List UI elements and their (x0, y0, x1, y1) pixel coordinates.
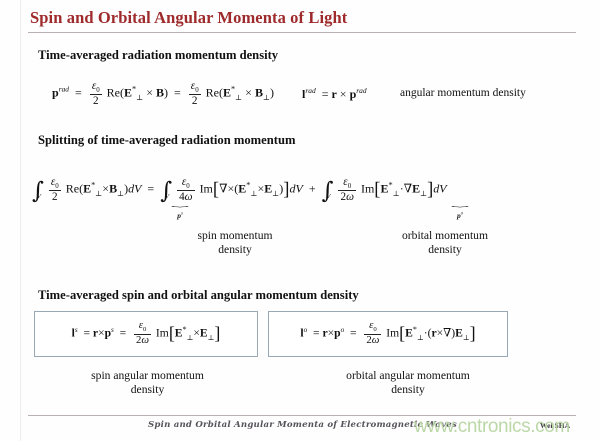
caption-spin-momentum-line1: spin momentum (150, 229, 320, 243)
caption-orbital-angular-momentum-density: orbital angular momentum density (278, 369, 538, 397)
section-heading-momentum-density: Time-averaged radiation momentum density (38, 48, 278, 63)
brace-label-orbital-sup: o (461, 212, 463, 217)
equation-box-spin: ls = r×ps = ε0 2ω Im[E*⊥×E⊥] (34, 311, 258, 357)
equation-spin-angular-momentum: ls = r×ps = ε0 2ω Im[E*⊥×E⊥] (72, 321, 221, 347)
slide-canvas: Spin and Orbital Angular Momenta of Ligh… (0, 0, 600, 441)
fraction-eps0-over-2-split: ε0 2 (49, 176, 61, 204)
caption-orbital-momentum-line1: orbital momentum (355, 229, 535, 243)
caption-orbital-momentum-line2: density (355, 243, 535, 257)
label-angular-momentum-density: angular momentum density (400, 87, 526, 99)
equation-angular-momentum-density: lrad = r × prad (302, 86, 367, 102)
superscript-rad-l: rad (305, 86, 315, 95)
underbrace-orbital-momentum: ⏟ po (405, 200, 515, 220)
footer-title: Spin and Orbital Angular Momenta of Elec… (148, 420, 457, 430)
fraction-eps0-over-2: ε0 2 (90, 80, 102, 108)
fraction-eps0-over-2omega-spin: ε0 2ω (134, 320, 151, 346)
caption-orbital-angular-line2: density (278, 383, 538, 397)
underbrace-spin-momentum: ⏟ ps (120, 200, 240, 220)
left-edge-rule (20, 0, 21, 441)
fraction-eps0-over-2-second: ε0 2 (189, 80, 201, 108)
superscript-rad-p: rad (356, 86, 366, 95)
section-heading-spin-orbital: Time-averaged spin and orbital angular m… (38, 288, 359, 303)
title-divider (28, 32, 576, 33)
caption-spin-angular-line2: density (30, 383, 265, 397)
watermark-cntronics: www.cntronics.com (414, 416, 570, 438)
equation-momentum-density: prad = ε0 2 Re(E*⊥ × B) = ε0 2 Re(E*⊥ × … (52, 80, 274, 108)
equation-orbital-angular-momentum: lo = r×po = ε0 2ω Im[E*⊥·(r×∇)E⊥] (300, 321, 475, 347)
caption-spin-angular-momentum-density: spin angular momentum density (30, 369, 265, 397)
caption-orbital-angular-line1: orbital angular momentum (278, 369, 538, 383)
fraction-eps0-over-2omega: ε0 2ω (338, 176, 355, 204)
equation-box-orbital: lo = r×po = ε0 2ω Im[E*⊥·(r×∇)E⊥] (268, 311, 508, 357)
superscript-o-l: o (304, 326, 308, 334)
superscript-s-l: s (75, 326, 78, 334)
fraction-eps0-over-2omega-orbital: ε0 2ω (364, 320, 381, 346)
section-heading-splitting: Splitting of time-averaged radiation mom… (38, 133, 295, 148)
superscript-rad: rad (59, 85, 69, 94)
superscript-o-p: o (341, 326, 345, 334)
brace-label-spin-sup: s (181, 212, 183, 217)
caption-orbital-momentum-density: orbital momentum density (355, 229, 535, 257)
caption-spin-momentum-density: spin momentum density (150, 229, 320, 257)
page-title: Spin and Orbital Angular Momenta of Ligh… (30, 8, 347, 28)
caption-spin-momentum-line2: density (150, 243, 320, 257)
caption-spin-angular-line1: spin angular momentum (30, 369, 265, 383)
superscript-s-p: s (111, 326, 114, 334)
